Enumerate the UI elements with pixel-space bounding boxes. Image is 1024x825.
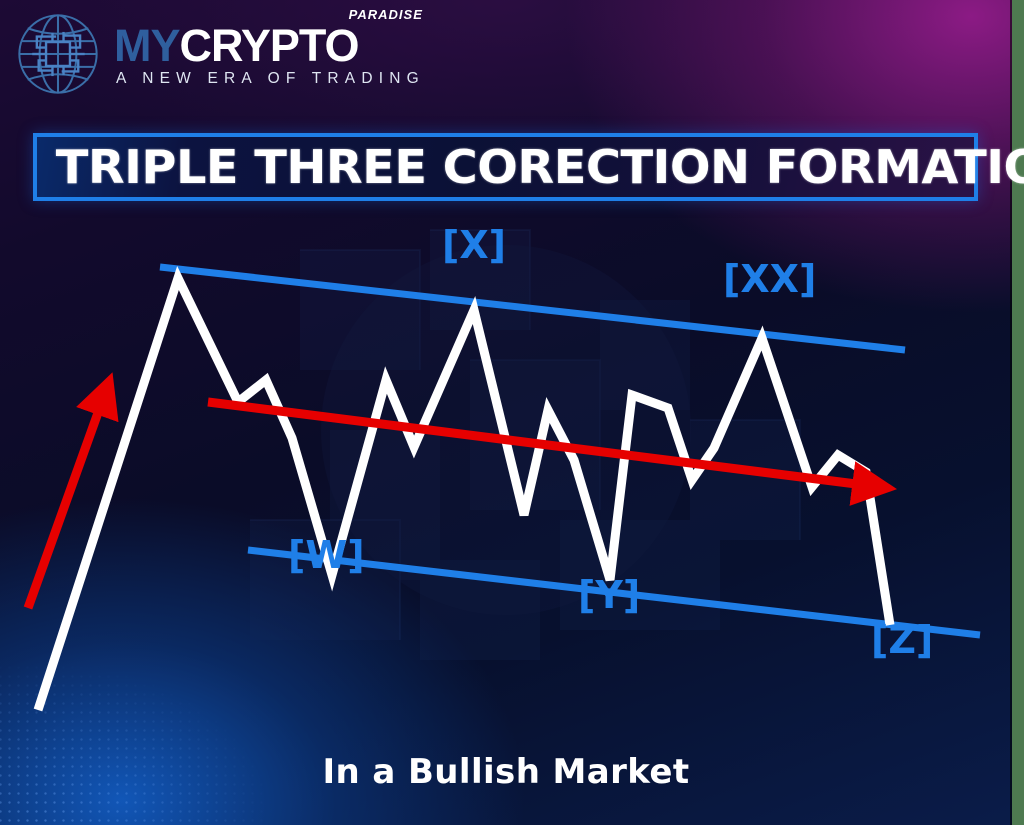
brand-name-my: MY — [114, 20, 180, 71]
wave-label-xx: [XX] — [723, 257, 816, 301]
infographic-page: MYCRYPTO PARADISE A NEW ERA OF TRADING T… — [0, 0, 1024, 825]
wave-label-x: [X] — [442, 223, 506, 267]
brand-logo: MYCRYPTO PARADISE A NEW ERA OF TRADING — [12, 8, 425, 100]
wave-label-y: [Y] — [578, 573, 640, 617]
chart-caption: In a Bullish Market — [0, 752, 1012, 792]
globe-circuit-icon — [12, 8, 104, 100]
brand-wordmark: MYCRYPTO PARADISE A NEW ERA OF TRADING — [114, 20, 425, 88]
downtrend-arrow — [208, 402, 872, 486]
right-edge-strip — [1012, 0, 1024, 825]
wave-label-z: [Z] — [871, 618, 933, 662]
brand-superscript: PARADISE — [349, 9, 423, 21]
price-line — [38, 278, 890, 710]
bullish-impulse-arrow — [28, 396, 104, 608]
brand-name-crypto: CRYPTO — [180, 20, 359, 71]
brand-tagline: A NEW ERA OF TRADING — [114, 67, 425, 88]
brand-name: MYCRYPTO PARADISE — [114, 24, 425, 67]
page-title: TRIPLE THREE CORECTION FORMATION — [37, 140, 1024, 194]
wave-label-w: [W] — [288, 533, 365, 577]
title-banner: TRIPLE THREE CORECTION FORMATION — [33, 133, 978, 201]
pattern-chart: [W][X][Y][XX][Z] — [0, 210, 1012, 720]
price-zigzag-line — [38, 278, 890, 710]
